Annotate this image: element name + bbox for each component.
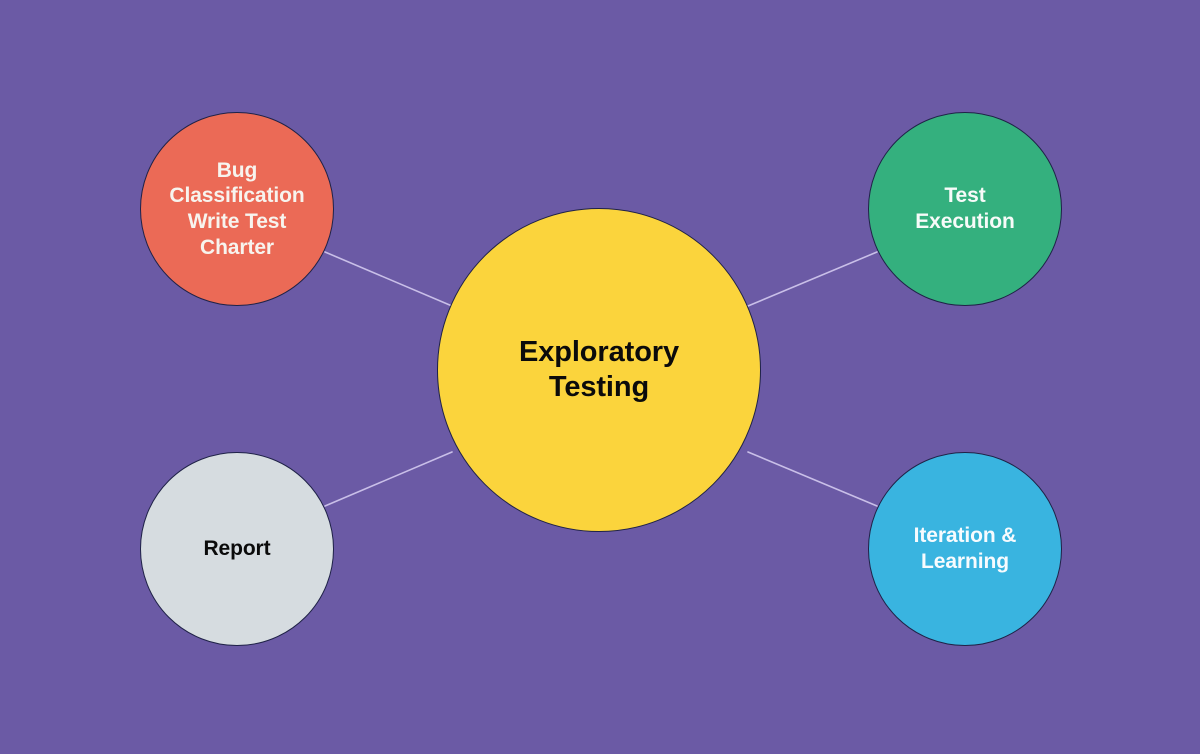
node-test-execution[interactable]: Test Execution	[868, 112, 1062, 306]
node-label-bug-classification-write-test-charter: Bug Classification Write Test Charter	[169, 158, 304, 260]
node-label-test-execution: Test Execution	[915, 183, 1014, 234]
node-bug-classification-write-test-charter[interactable]: Bug Classification Write Test Charter	[140, 112, 334, 306]
link-center-top-right	[748, 252, 877, 306]
node-exploratory-testing[interactable]: Exploratory Testing	[437, 208, 761, 532]
diagram-canvas: Exploratory Testing Bug Classification W…	[0, 0, 1200, 754]
node-label-exploratory-testing: Exploratory Testing	[519, 335, 679, 406]
node-label-report: Report	[203, 536, 270, 562]
link-center-bottom-right	[748, 452, 877, 506]
node-label-iteration-and-learning: Iteration & Learning	[914, 523, 1017, 574]
link-center-bottom-left	[325, 452, 452, 506]
node-report[interactable]: Report	[140, 452, 334, 646]
node-iteration-and-learning[interactable]: Iteration & Learning	[868, 452, 1062, 646]
link-center-top-left	[325, 252, 452, 306]
